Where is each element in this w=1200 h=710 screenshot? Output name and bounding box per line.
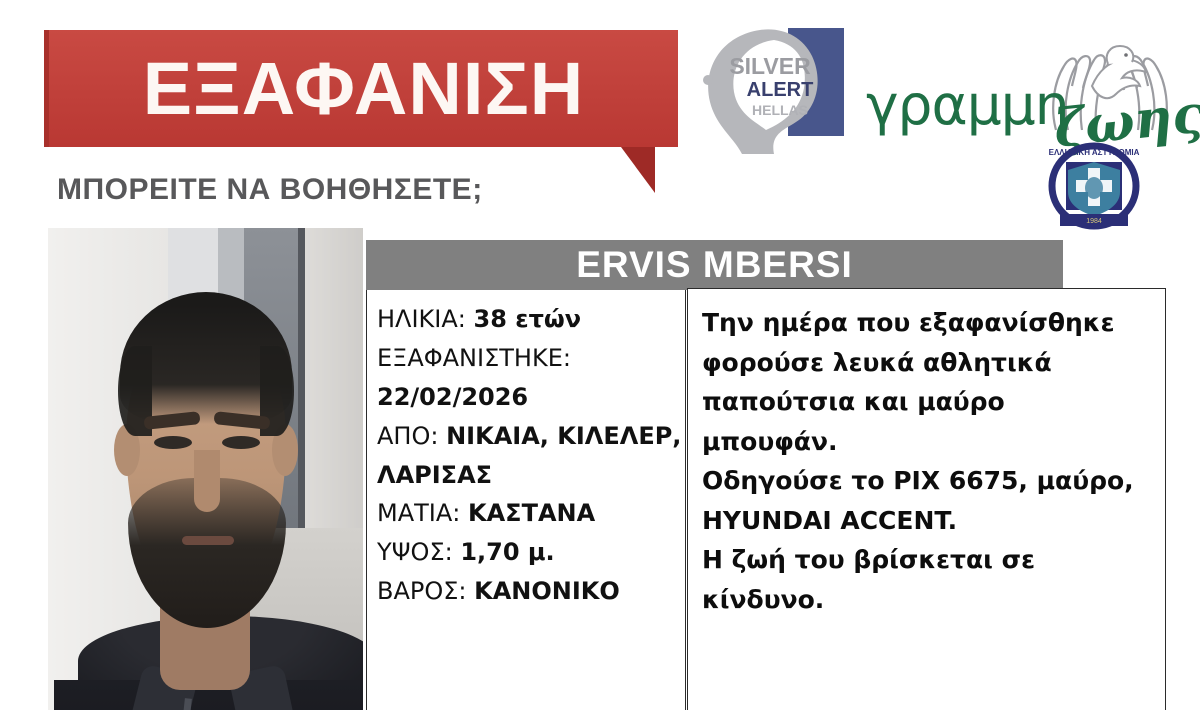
detail-row-eyes: ΜΑΤΙΑ: ΚΑΣΤΑΝΑ [377,494,685,533]
detail-row-age: ΗΛΙΚΙΑ: 38 ετών [377,300,685,339]
detail-value-from: ΝΙΚΑΙΑ, ΚΙΛΕΛΕΡ, [446,422,681,450]
photo-eye-left [154,436,192,449]
detail-row-disappeared-label: ΕΞΑΦΑΝΙΣΤΗΚΕ: [377,339,685,378]
photo-eye-right [222,436,260,449]
description-line: HYUNDAI ACCENT. [702,501,1153,541]
description-line: κίνδυνο. [702,580,1153,620]
detail-label-eyes: ΜΑΤΙΑ: [377,499,468,527]
person-name-text: ERVIS MBERSI [576,244,853,286]
detail-row-height: ΥΨΟΣ: 1,70 μ. [377,533,685,572]
silver-alert-line1: SILVER [729,53,811,79]
police-badge-graphic: ΕΛΛΗΝΙΚΗ ΑΣΤΥΝΟΜΙΑ 1984 [1040,142,1148,234]
alert-banner-text: ΕΞΑΦΑΝΙΣΗ [143,52,584,126]
lifeline-word-grammi: γραμμη [866,78,1069,133]
description-line: μπουφάν. [702,422,1153,462]
description-line: Την ημέρα που εξαφανίσθηκε [702,303,1153,343]
missing-person-poster: ΕΞΑΦΑΝΙΣΗ ΜΠΟΡΕΙΤΕ ΝΑ ΒΟΗΘΗΣΕΤΕ; SILVER … [0,0,1200,710]
detail-row-weight: ΒΑΡΟΣ: ΚΑΝΟΝΙΚΟ [377,572,685,611]
silver-alert-logo-graphic: SILVER ALERT HELLAS [700,26,855,158]
detail-label-height: ΥΨΟΣ: [377,538,460,566]
help-question-text: ΜΠΟΡΕΙΤΕ ΝΑ ΒΟΗΘΗΣΕΤΕ; [57,173,483,207]
photo-mouth [182,536,234,545]
detail-label-weight: ΒΑΡΟΣ: [377,577,474,605]
hellenic-police-badge: ΕΛΛΗΝΙΚΗ ΑΣΤΥΝΟΜΙΑ 1984 [1040,142,1148,234]
lifeline-logo: γραμμη ζωης [866,42,1171,152]
person-details-panel: ΗΛΙΚΙΑ: 38 ετών ΕΞΑΦΑΝΙΣΤΗΚΕ: 22/02/2026… [366,290,686,710]
description-panel: Την ημέρα που εξαφανίσθηκε φορούσε λευκά… [687,288,1166,710]
silver-alert-line3: HELLAS [752,102,808,118]
silver-alert-line2: ALERT [747,79,814,101]
person-name-banner: ERVIS MBERSI [366,240,1063,290]
detail-value-from-cont: ΛΑΡΙΣΑΣ [377,461,492,489]
detail-value-age: 38 ετών [474,305,582,333]
detail-label-disappeared: ΕΞΑΦΑΝΙΣΤΗΚΕ: [377,344,571,372]
speech-bubble-tail [621,147,655,193]
missing-alert-banner: ΕΞΑΦΑΝΙΣΗ [44,30,678,147]
police-badge-text: ΕΛΛΗΝΙΚΗ ΑΣΤΥΝΟΜΙΑ [1049,148,1140,157]
detail-label-age: ΗΛΙΚΙΑ: [377,305,474,333]
description-line: φορούσε λευκά αθλητικά [702,343,1153,383]
description-line: παπούτσια και μαύρο [702,382,1153,422]
detail-label-from: ΑΠΟ: [377,422,446,450]
detail-value-date: 22/02/2026 [377,383,528,411]
poster-header: ΕΞΑΦΑΝΙΣΗ ΜΠΟΡΕΙΤΕ ΝΑ ΒΟΗΘΗΣΕΤΕ; SILVER … [0,0,1200,222]
detail-value-weight: ΚΑΝΟΝΙΚΟ [474,577,620,605]
police-badge-ribbon: 1984 [1086,218,1102,225]
photo-door-edge [298,228,305,558]
photo-nose [194,450,220,512]
detail-value-eyes: ΚΑΣΤΑΝΑ [468,499,595,527]
description-line: Οδηγούσε το ΡΙΧ 6675, μαύρο, [702,461,1153,501]
silver-alert-logo: SILVER ALERT HELLAS [700,26,855,158]
missing-person-photo [48,228,363,710]
detail-value-height: 1,70 μ. [460,538,554,566]
detail-row-from-cont: ΛΑΡΙΣΑΣ [377,456,685,495]
detail-row-disappeared-date: 22/02/2026 [377,378,685,417]
description-line: Η ζωή του βρίσκεται σε [702,540,1153,580]
detail-row-from: ΑΠΟ: ΝΙΚΑΙΑ, ΚΙΛΕΛΕΡ, [377,417,685,456]
